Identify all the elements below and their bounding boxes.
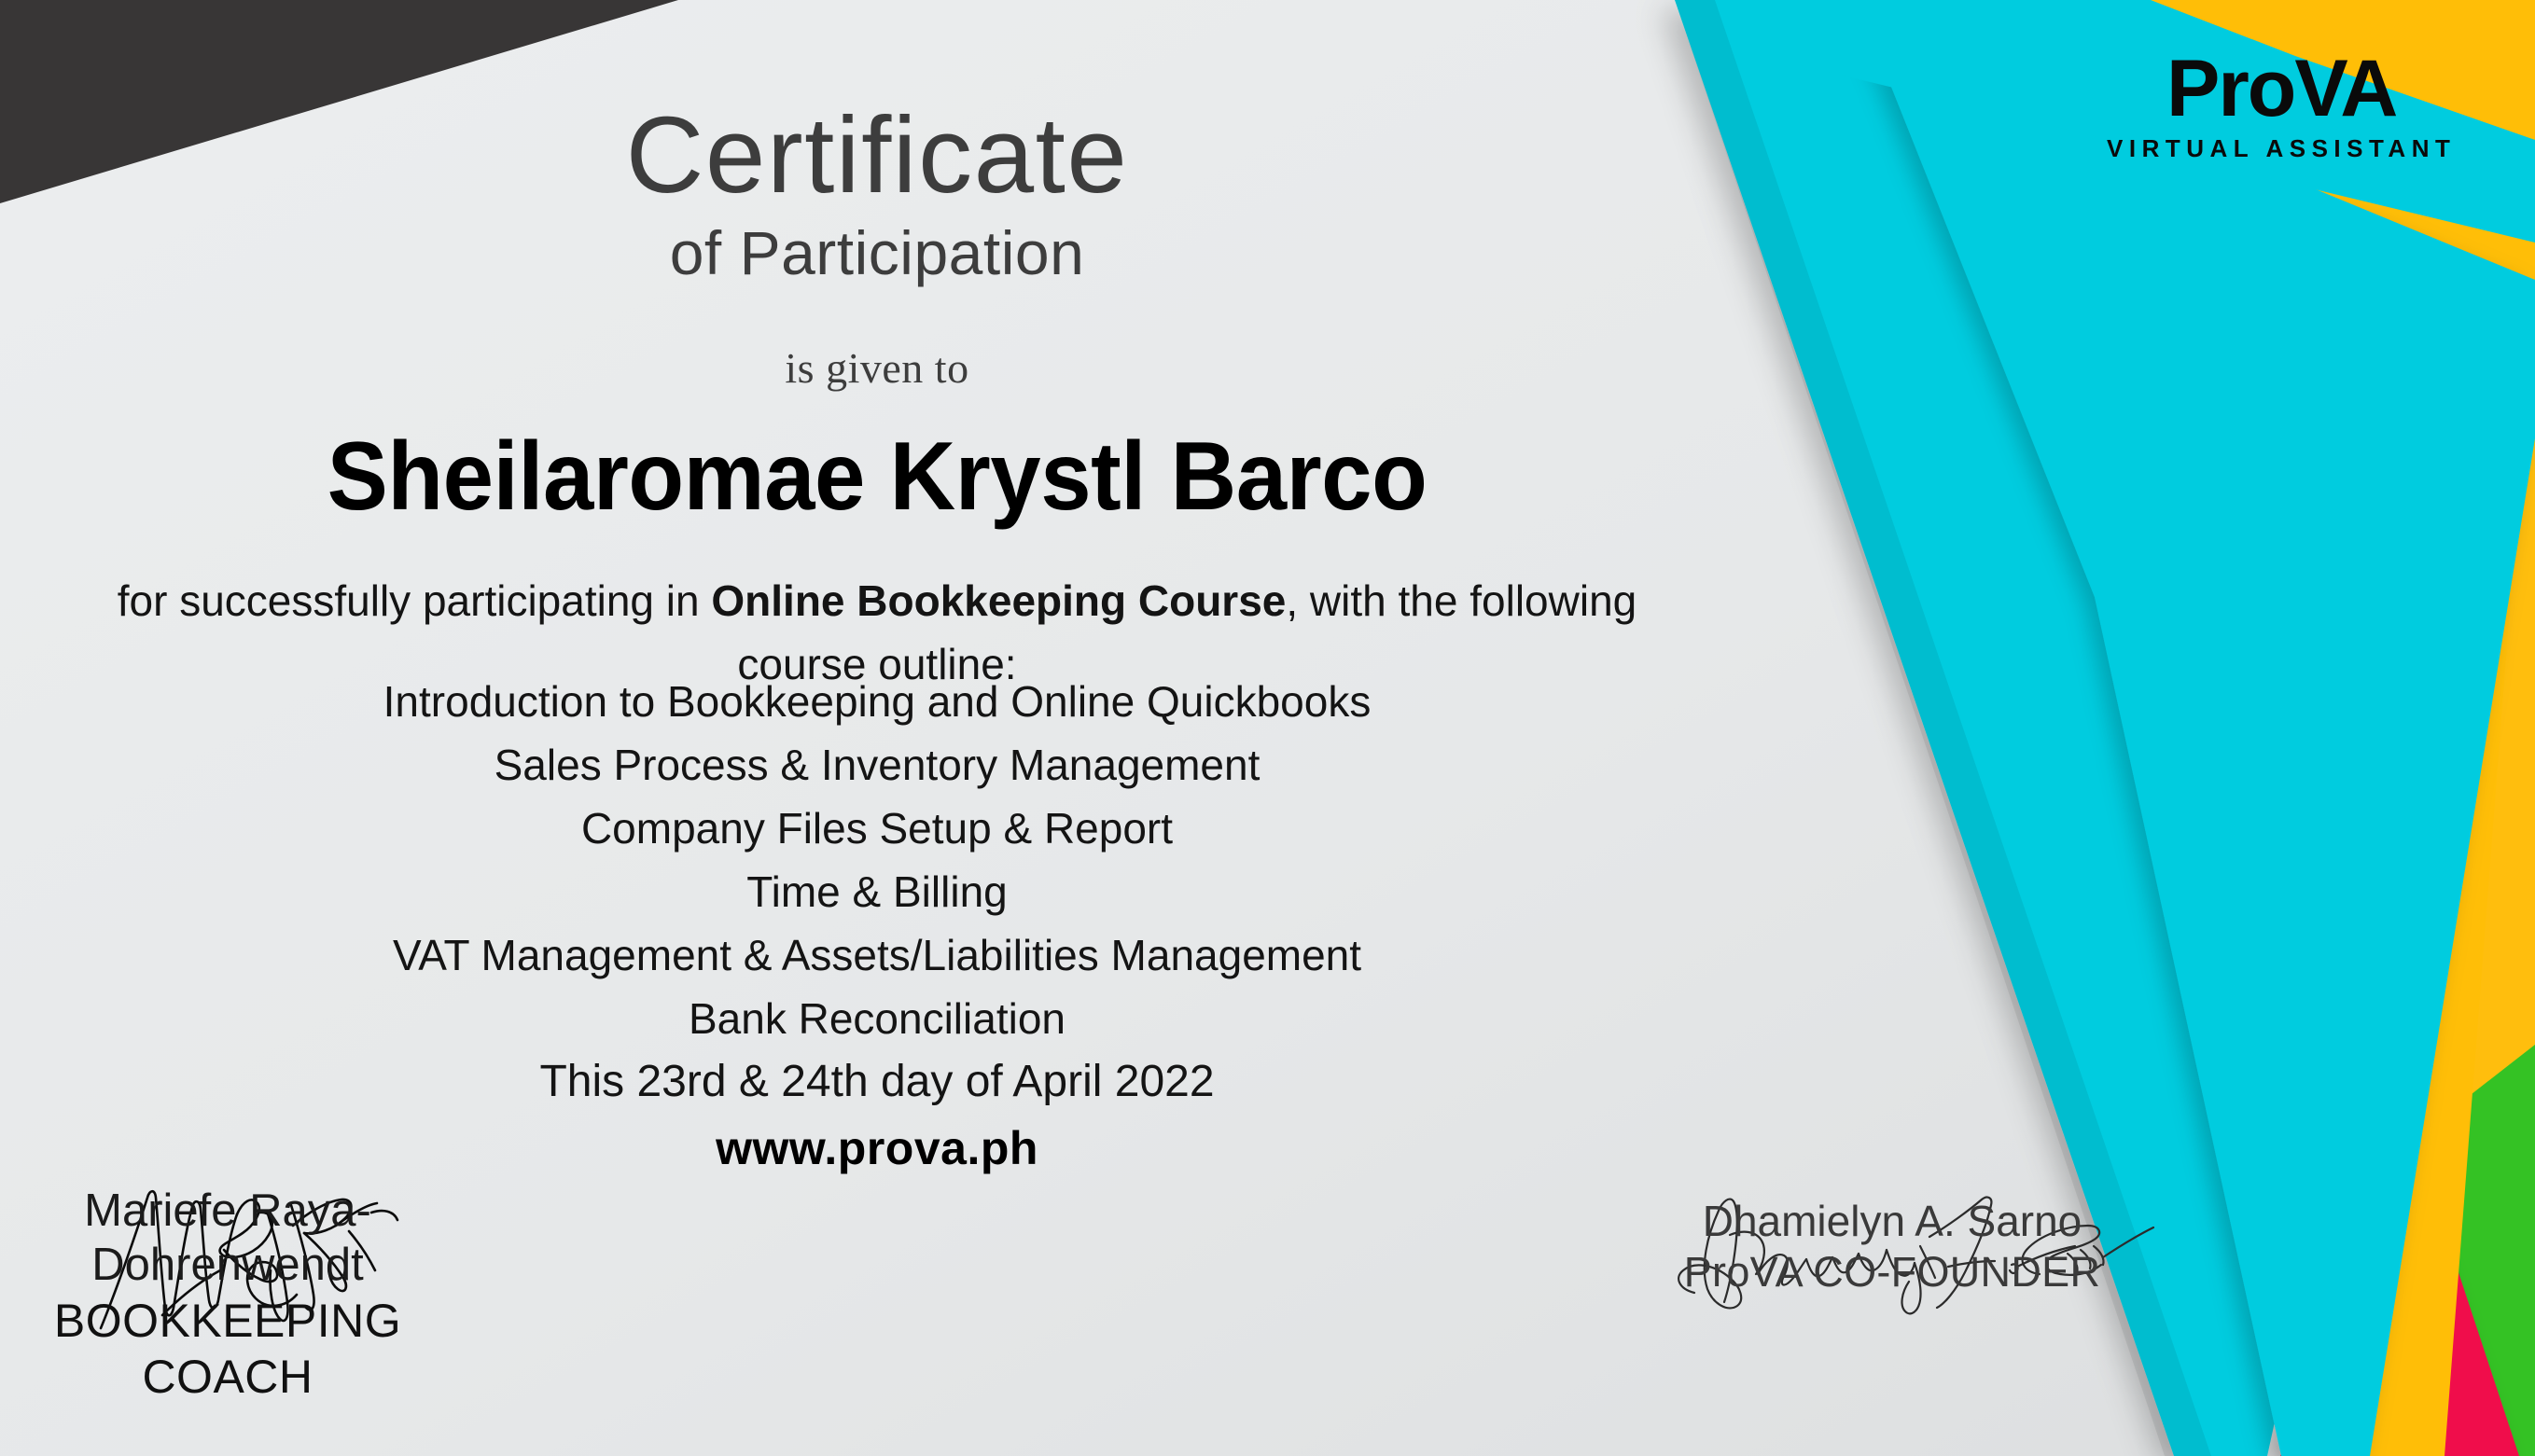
course-name: Online Bookkeeping Course <box>711 576 1286 625</box>
statement-prefix: for successfully participating in <box>118 576 712 625</box>
signature-role: ProVA CO-FOUNDER <box>1603 1247 2181 1297</box>
website-url[interactable]: www.prova.ph <box>0 1121 1754 1175</box>
course-outline-list: Introduction to Bookkeeping and Online Q… <box>0 670 1754 1050</box>
green-wedge <box>2361 1073 2535 1456</box>
logo-wordmark: ProVA <box>2166 49 2396 129</box>
certificate-title: Certificate <box>0 101 1754 209</box>
signature-name: Dhamielyn A. Sarno <box>1603 1196 2181 1247</box>
outline-item: Introduction to Bookkeeping and Online Q… <box>0 670 1754 733</box>
given-to-label: is given to <box>0 343 1754 393</box>
signature-block-right: Dhamielyn A. Sarno ProVA CO-FOUNDER <box>1603 1196 2181 1297</box>
outline-item: Sales Process & Inventory Management <box>0 733 1754 797</box>
certificate-canvas: ProVA VIRTUAL ASSISTANT Certificate of P… <box>0 0 2535 1456</box>
outline-item: Time & Billing <box>0 860 1754 923</box>
certificate-content: Certificate of Participation is given to… <box>0 0 1754 1456</box>
logo-tagline: VIRTUAL ASSISTANT <box>2107 136 2456 160</box>
signature-name: Mariefe Raya-Dohrenwendt <box>13 1185 442 1293</box>
certificate-title-block: Certificate of Participation <box>0 101 1754 292</box>
outline-item: Company Files Setup & Report <box>0 797 1754 860</box>
award-date: This 23rd & 24th day of April 2022 <box>0 1056 1754 1107</box>
crimson-wedge <box>2280 1145 2519 1456</box>
certificate-subtitle: of Participation <box>0 215 1754 292</box>
signature-role: BOOKKEEPING COACH <box>13 1293 442 1405</box>
outline-item: Bank Reconciliation <box>0 987 1754 1050</box>
green-wedge-2 <box>2344 1045 2535 1456</box>
recipient-name: Sheilaromae Krystl Barco <box>52 422 1701 533</box>
outline-item: VAT Management & Assets/Liabilities Mana… <box>0 923 1754 987</box>
signature-block-left: Mariefe Raya-Dohrenwendt BOOKKEEPING COA… <box>13 1185 442 1405</box>
prova-logo: ProVA VIRTUAL ASSISTANT <box>2107 49 2456 160</box>
